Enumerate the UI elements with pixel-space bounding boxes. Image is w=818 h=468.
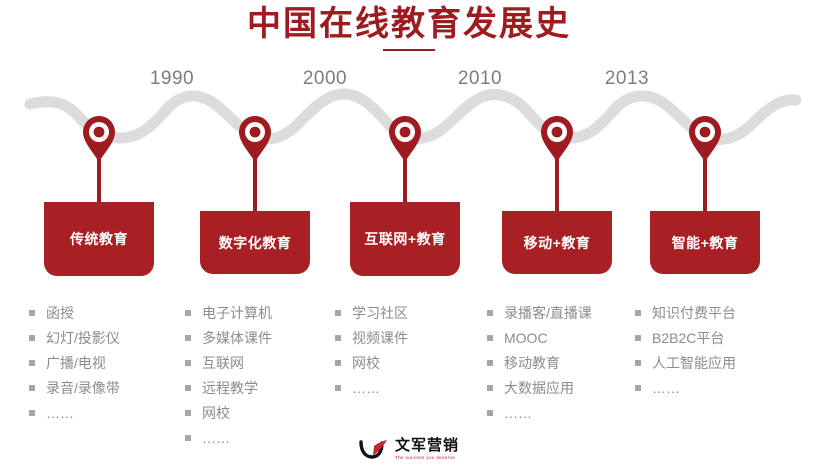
logo-text: 文军营销 The success you deserve — [395, 438, 459, 461]
bullet-square-icon — [185, 410, 191, 416]
list-item: 网校 — [185, 400, 337, 425]
list-item-label: …… — [46, 405, 74, 421]
list-item: MOOC — [487, 325, 639, 350]
stage-card-label: 智能+教育 — [672, 234, 739, 252]
list-item-label: 学习社区 — [352, 305, 408, 321]
stage-card-digital-education[interactable]: 数字化教育 — [200, 211, 310, 274]
list-item-label: 幻灯/投影仪 — [46, 330, 120, 346]
stage-card-label: 传统教育 — [70, 230, 128, 248]
list-item-label: 知识付费平台 — [652, 305, 736, 321]
list-item: …… — [487, 400, 639, 425]
bullet-square-icon — [635, 360, 641, 366]
bullet-square-icon — [29, 410, 35, 416]
bullet-square-icon — [335, 360, 341, 366]
logo-tagline: The success you deserve — [395, 454, 459, 461]
list-item: B2B2C平台 — [635, 325, 787, 350]
item-list-mobile-plus-education: 录播客/直播课MOOC移动教育大数据应用…… — [487, 300, 639, 425]
bullet-square-icon — [335, 310, 341, 316]
stage-card-internet-plus-education[interactable]: 互联网+教育 — [350, 202, 460, 276]
item-list-traditional-education: 函授幻灯/投影仪广播/电视录音/录像带…… — [29, 300, 181, 425]
bullet-square-icon — [635, 310, 641, 316]
bullet-square-icon — [185, 360, 191, 366]
list-item-label: 互联网 — [202, 355, 244, 371]
list-item-label: …… — [652, 380, 680, 396]
list-item-label: 录播客/直播课 — [504, 305, 592, 321]
list-item-label: 大数据应用 — [504, 380, 574, 396]
list-item: 多媒体课件 — [185, 325, 337, 350]
title-text: 中国在线教育发展史 — [0, 2, 818, 46]
list-item: …… — [29, 400, 181, 425]
list-item-label: …… — [352, 380, 380, 396]
item-list-intelligence-plus-education: 知识付费平台B2B2C平台人工智能应用…… — [635, 300, 787, 400]
item-list-internet-plus-education: 学习社区视频课件网校…… — [335, 300, 487, 400]
list-item-label: B2B2C平台 — [652, 330, 724, 346]
bullet-square-icon — [185, 335, 191, 341]
bullet-square-icon — [335, 335, 341, 341]
list-item-label: 函授 — [46, 305, 74, 321]
list-item: 视频课件 — [335, 325, 487, 350]
bullet-square-icon — [487, 335, 493, 341]
page-title: 中国在线教育发展史 — [0, 2, 818, 51]
brand-logo: 文军营销 The success you deserve — [359, 436, 459, 462]
stage-card-mobile-plus-education[interactable]: 移动+教育 — [502, 211, 612, 274]
list-item-label: …… — [202, 430, 230, 446]
list-item: …… — [335, 375, 487, 400]
pin-stem — [703, 154, 707, 211]
list-item-label: 电子计算机 — [202, 305, 272, 321]
title-underline — [383, 49, 435, 51]
list-item: 移动教育 — [487, 350, 639, 375]
list-item: 函授 — [29, 300, 181, 325]
bullet-square-icon — [29, 335, 35, 341]
list-item: 电子计算机 — [185, 300, 337, 325]
pin-stem — [403, 154, 407, 202]
list-item-label: 人工智能应用 — [652, 355, 736, 371]
bullet-square-icon — [335, 385, 341, 391]
list-item-label: …… — [504, 405, 532, 421]
list-item: 互联网 — [185, 350, 337, 375]
stage-card-intelligence-plus-education[interactable]: 智能+教育 — [650, 211, 760, 274]
stage-card-traditional-education[interactable]: 传统教育 — [44, 202, 154, 276]
list-item: 远程教学 — [185, 375, 337, 400]
bullet-square-icon — [487, 410, 493, 416]
list-item-label: 移动教育 — [504, 355, 560, 371]
list-item: 录播客/直播课 — [487, 300, 639, 325]
pin-stem — [253, 154, 257, 211]
bullet-square-icon — [487, 385, 493, 391]
list-item: 广播/电视 — [29, 350, 181, 375]
list-item: 网校 — [335, 350, 487, 375]
bullet-square-icon — [29, 360, 35, 366]
list-item: …… — [185, 425, 337, 450]
bullet-square-icon — [185, 435, 191, 441]
bullet-square-icon — [635, 385, 641, 391]
list-item-label: 网校 — [352, 355, 380, 371]
pin-stem — [555, 154, 559, 211]
bullet-square-icon — [185, 385, 191, 391]
bullet-square-icon — [29, 385, 35, 391]
item-list-digital-education: 电子计算机多媒体课件互联网远程教学网校…… — [185, 300, 337, 450]
bullet-square-icon — [185, 310, 191, 316]
list-item: 人工智能应用 — [635, 350, 787, 375]
pin-stem — [97, 154, 101, 202]
list-item: 知识付费平台 — [635, 300, 787, 325]
logo-swoosh-icon — [359, 438, 389, 460]
list-item-label: 录音/录像带 — [46, 380, 120, 396]
list-item: …… — [635, 375, 787, 400]
list-item-label: 多媒体课件 — [202, 330, 272, 346]
list-item: 大数据应用 — [487, 375, 639, 400]
bullet-square-icon — [29, 310, 35, 316]
list-item-label: 广播/电视 — [46, 355, 106, 371]
stage-card-label: 移动+教育 — [524, 234, 591, 252]
list-item-label: 视频课件 — [352, 330, 408, 346]
list-item-label: 网校 — [202, 405, 230, 421]
stage-card-label: 互联网+教育 — [364, 230, 445, 248]
logo-name: 文军营销 — [395, 438, 459, 454]
stage-card-label: 数字化教育 — [219, 234, 292, 252]
bullet-square-icon — [487, 360, 493, 366]
list-item: 录音/录像带 — [29, 375, 181, 400]
list-item: 学习社区 — [335, 300, 487, 325]
bullet-square-icon — [487, 310, 493, 316]
list-item: 幻灯/投影仪 — [29, 325, 181, 350]
list-item-label: 远程教学 — [202, 380, 258, 396]
bullet-square-icon — [635, 335, 641, 341]
list-item-label: MOOC — [504, 330, 548, 346]
